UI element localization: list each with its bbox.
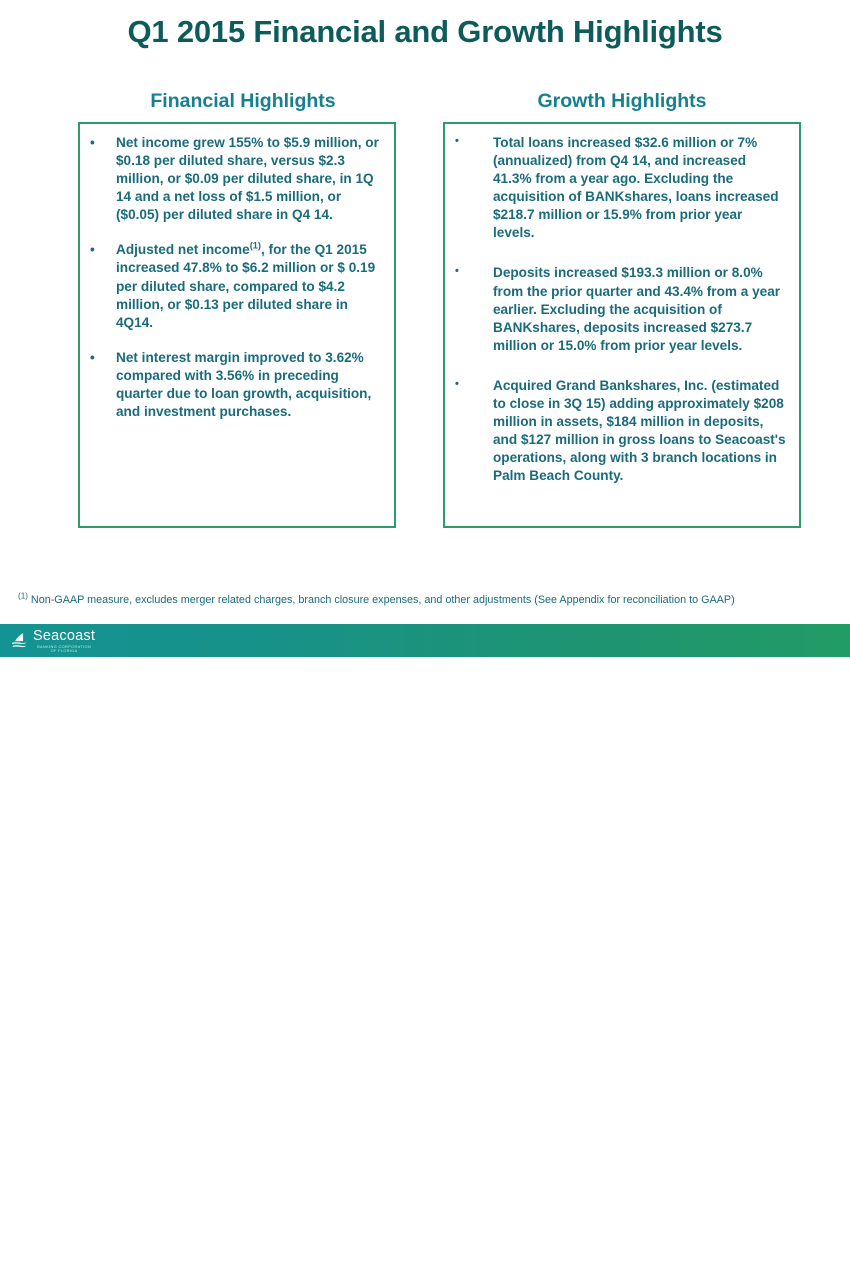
sailboat-wave-icon — [10, 632, 29, 651]
bullet-item: •Total loans increased $32.6 million or … — [455, 134, 787, 242]
page-title: Q1 2015 Financial and Growth Highlights — [0, 14, 850, 50]
page-number: 3 — [798, 1255, 804, 1267]
footer-divider — [104, 1254, 106, 1273]
bullet-text: Acquired Grand Bankshares, Inc. (estimat… — [455, 377, 787, 485]
footer-bar: Seacoast BANKING CORPORATION OF FLORIDA … — [0, 624, 850, 657]
bullet-item: •Net income grew 155% to $5.9 million, o… — [90, 134, 382, 224]
financial-bullet-list: •Net income grew 155% to $5.9 million, o… — [90, 134, 382, 421]
logo-subtitle: BANKING CORPORATION OF FLORIDA — [33, 645, 95, 653]
logo-subtitle-line2: OF FLORIDA — [33, 649, 95, 653]
bullet-text: Net interest margin improved to 3.62% co… — [90, 349, 382, 421]
bullet-dot-icon: • — [455, 134, 467, 149]
growth-highlights-box: •Total loans increased $32.6 million or … — [443, 122, 801, 528]
seacoast-logo: Seacoast BANKING CORPORATION OF FLORIDA — [10, 628, 95, 654]
column-heading-financial: Financial Highlights — [78, 90, 408, 113]
bullet-text: Total loans increased $32.6 million or 7… — [455, 134, 787, 242]
footnote: (1) Non-GAAP measure, excludes merger re… — [18, 594, 833, 606]
bullet-text: Net income grew 155% to $5.9 million, or… — [90, 134, 382, 224]
bullet-text: Adjusted net income(1), for the Q1 2015 … — [90, 241, 382, 331]
bullet-dot-icon: • — [90, 134, 102, 152]
footnote-ref: (1) — [250, 241, 261, 251]
logo-wordmark: Seacoast BANKING CORPORATION OF FLORIDA — [33, 629, 95, 653]
footnote-marker: (1) — [18, 591, 28, 600]
bullet-dot-icon: • — [455, 264, 467, 279]
bullet-text: Deposits increased $193.3 million or 8.0… — [455, 264, 787, 354]
bullet-dot-icon: • — [90, 349, 102, 367]
bullet-dot-icon: • — [90, 241, 102, 259]
bullet-item: •Net interest margin improved to 3.62% c… — [90, 349, 382, 421]
bullet-item: •Acquired Grand Bankshares, Inc. (estima… — [455, 377, 787, 485]
footnote-text: Non-GAAP measure, excludes merger relate… — [28, 594, 735, 606]
footer-period-label: First Quarter 2015 — [121, 1256, 214, 1268]
bullet-item: •Deposits increased $193.3 million or 8.… — [455, 264, 787, 354]
growth-bullet-list: •Total loans increased $32.6 million or … — [455, 134, 787, 485]
column-heading-growth: Growth Highlights — [443, 90, 801, 113]
slide: Q1 2015 Financial and Growth Highlights … — [0, 0, 850, 657]
bullet-dot-icon: • — [455, 377, 467, 392]
logo-name: Seacoast — [33, 629, 95, 644]
bullet-item: •Adjusted net income(1), for the Q1 2015… — [90, 241, 382, 331]
financial-highlights-box: •Net income grew 155% to $5.9 million, o… — [78, 122, 396, 528]
